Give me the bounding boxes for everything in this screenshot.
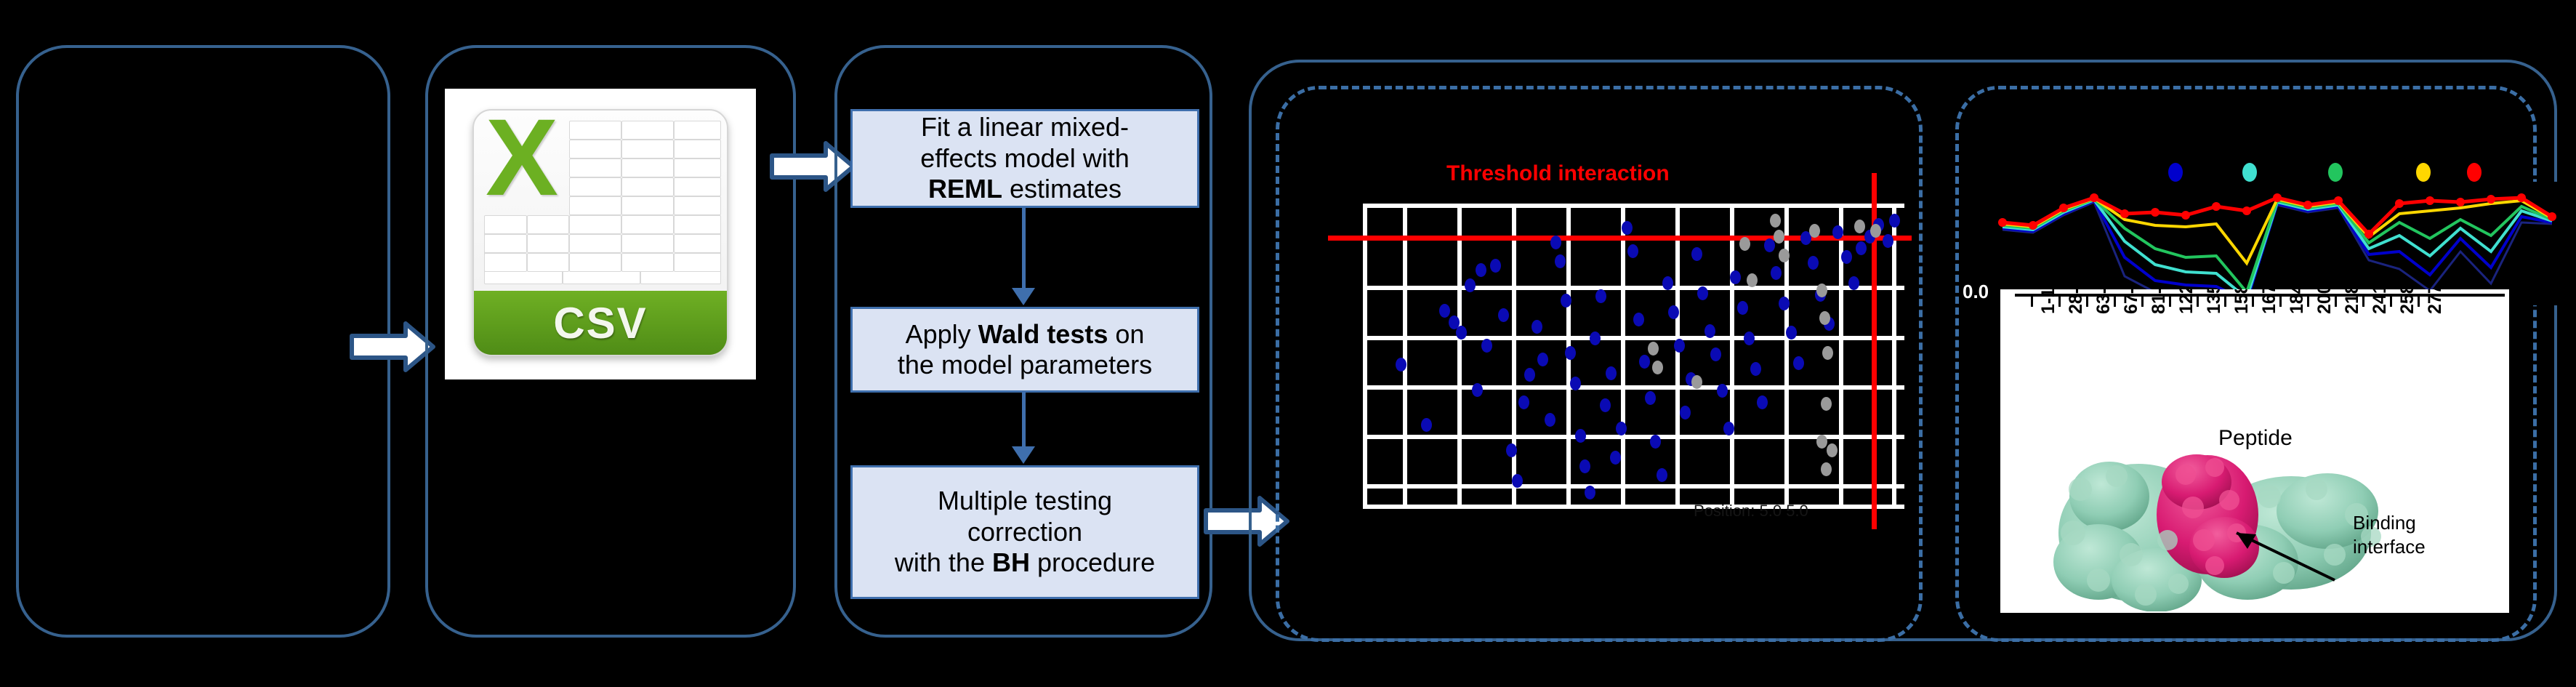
step-reml-emphasis: REML bbox=[928, 174, 1002, 204]
step-wald-line1-head: Apply bbox=[906, 319, 978, 349]
connector-arrowhead-2 bbox=[1012, 446, 1035, 464]
legend-dot-green bbox=[2328, 163, 2343, 182]
peptide-tick-14: 277-284 bbox=[2425, 289, 2446, 314]
csv-extension-band: CSV bbox=[474, 291, 727, 355]
peptide-tick-11: 218-237 bbox=[2342, 289, 2363, 314]
step-reml-line2: effects model with bbox=[920, 143, 1129, 173]
peptide-tick-2: 63-73 bbox=[2093, 289, 2114, 314]
connector-reml-to-wald bbox=[1022, 208, 1026, 288]
step-bh-line3-head: with the bbox=[895, 547, 992, 577]
peptide-tick-8: 167-180 bbox=[2259, 289, 2280, 314]
step-bh-line3-tail: procedure bbox=[1030, 547, 1155, 577]
legend-dot-cyan bbox=[2242, 163, 2257, 182]
peptide-tick-1: 28-44 bbox=[2066, 289, 2087, 314]
threshold-interaction-line bbox=[1328, 236, 1912, 241]
csv-extension-label: CSV bbox=[553, 298, 647, 348]
step-bh-line1: Multiple testing bbox=[938, 486, 1112, 515]
step-bh-line2: correction bbox=[967, 517, 1082, 547]
peptide-tick-0: 1-15 bbox=[2038, 289, 2059, 314]
figure-stage: X CSV Fit a linear mixed- effects model … bbox=[0, 0, 2576, 687]
binding-interface-annotation: Binding interface bbox=[2353, 511, 2426, 558]
step-reml-line3-tail: estimates bbox=[1002, 174, 1122, 204]
volcano-scatter-plot bbox=[1363, 204, 1904, 509]
step-bh-box[interactable]: Multiple testing correction with the BH … bbox=[850, 465, 1199, 599]
step-wald-line2: the model parameters bbox=[898, 350, 1152, 379]
csv-icon-body: X CSV bbox=[472, 109, 728, 356]
peptide-tick-12: 241-257 bbox=[2370, 289, 2391, 314]
peptide-tick-3: 67-75 bbox=[2121, 289, 2142, 314]
connector-arrowhead-1 bbox=[1012, 288, 1035, 305]
peptide-tick-13: 258-266 bbox=[2397, 289, 2418, 314]
peptide-tick-9: 184-199 bbox=[2287, 289, 2308, 314]
input-panel bbox=[16, 45, 390, 638]
peptide-axis-and-structure-card: 1-15 28-44 63-73 67-75 81-101 122-129 13… bbox=[2000, 289, 2509, 613]
y-axis-zero-label: 0.0 bbox=[1963, 281, 1989, 303]
excel-x-glyph: X bbox=[478, 109, 565, 208]
legend-dot-yellow bbox=[2416, 163, 2431, 182]
legend-dot-blue bbox=[2168, 163, 2183, 182]
legend-dot-red bbox=[2467, 163, 2482, 182]
binding-interface-line1: Binding bbox=[2353, 511, 2426, 535]
binding-interface-line2: interface bbox=[2353, 535, 2426, 559]
peptide-tick-7: 158-166 bbox=[2231, 289, 2253, 314]
step-reml-line1: Fit a linear mixed- bbox=[921, 112, 1129, 142]
step-bh-emphasis: BH bbox=[992, 547, 1030, 577]
step-wald-line1-tail: on bbox=[1108, 319, 1144, 349]
connector-wald-to-bh bbox=[1022, 393, 1026, 446]
csv-file-icon: X CSV bbox=[445, 89, 756, 379]
threshold-interaction-label: Threshold interaction bbox=[1446, 161, 1670, 186]
arrow-input-to-csv bbox=[349, 320, 436, 374]
scatter-position-note: Position: 5.0 5.0 bbox=[1694, 502, 1808, 521]
peptide-tick-5: 122-129 bbox=[2176, 289, 2197, 314]
step-reml-box[interactable]: Fit a linear mixed- effects model with R… bbox=[850, 109, 1199, 208]
peptide-line-chart bbox=[1988, 182, 2562, 305]
peptide-tick-10: 200-214 bbox=[2314, 289, 2335, 314]
step-wald-emphasis: Wald tests bbox=[978, 319, 1108, 349]
peptide-tick-6: 135-144 bbox=[2204, 289, 2225, 314]
peptide-tick-4: 81-101 bbox=[2149, 289, 2170, 314]
step-wald-box[interactable]: Apply Wald tests on the model parameters bbox=[850, 307, 1199, 393]
